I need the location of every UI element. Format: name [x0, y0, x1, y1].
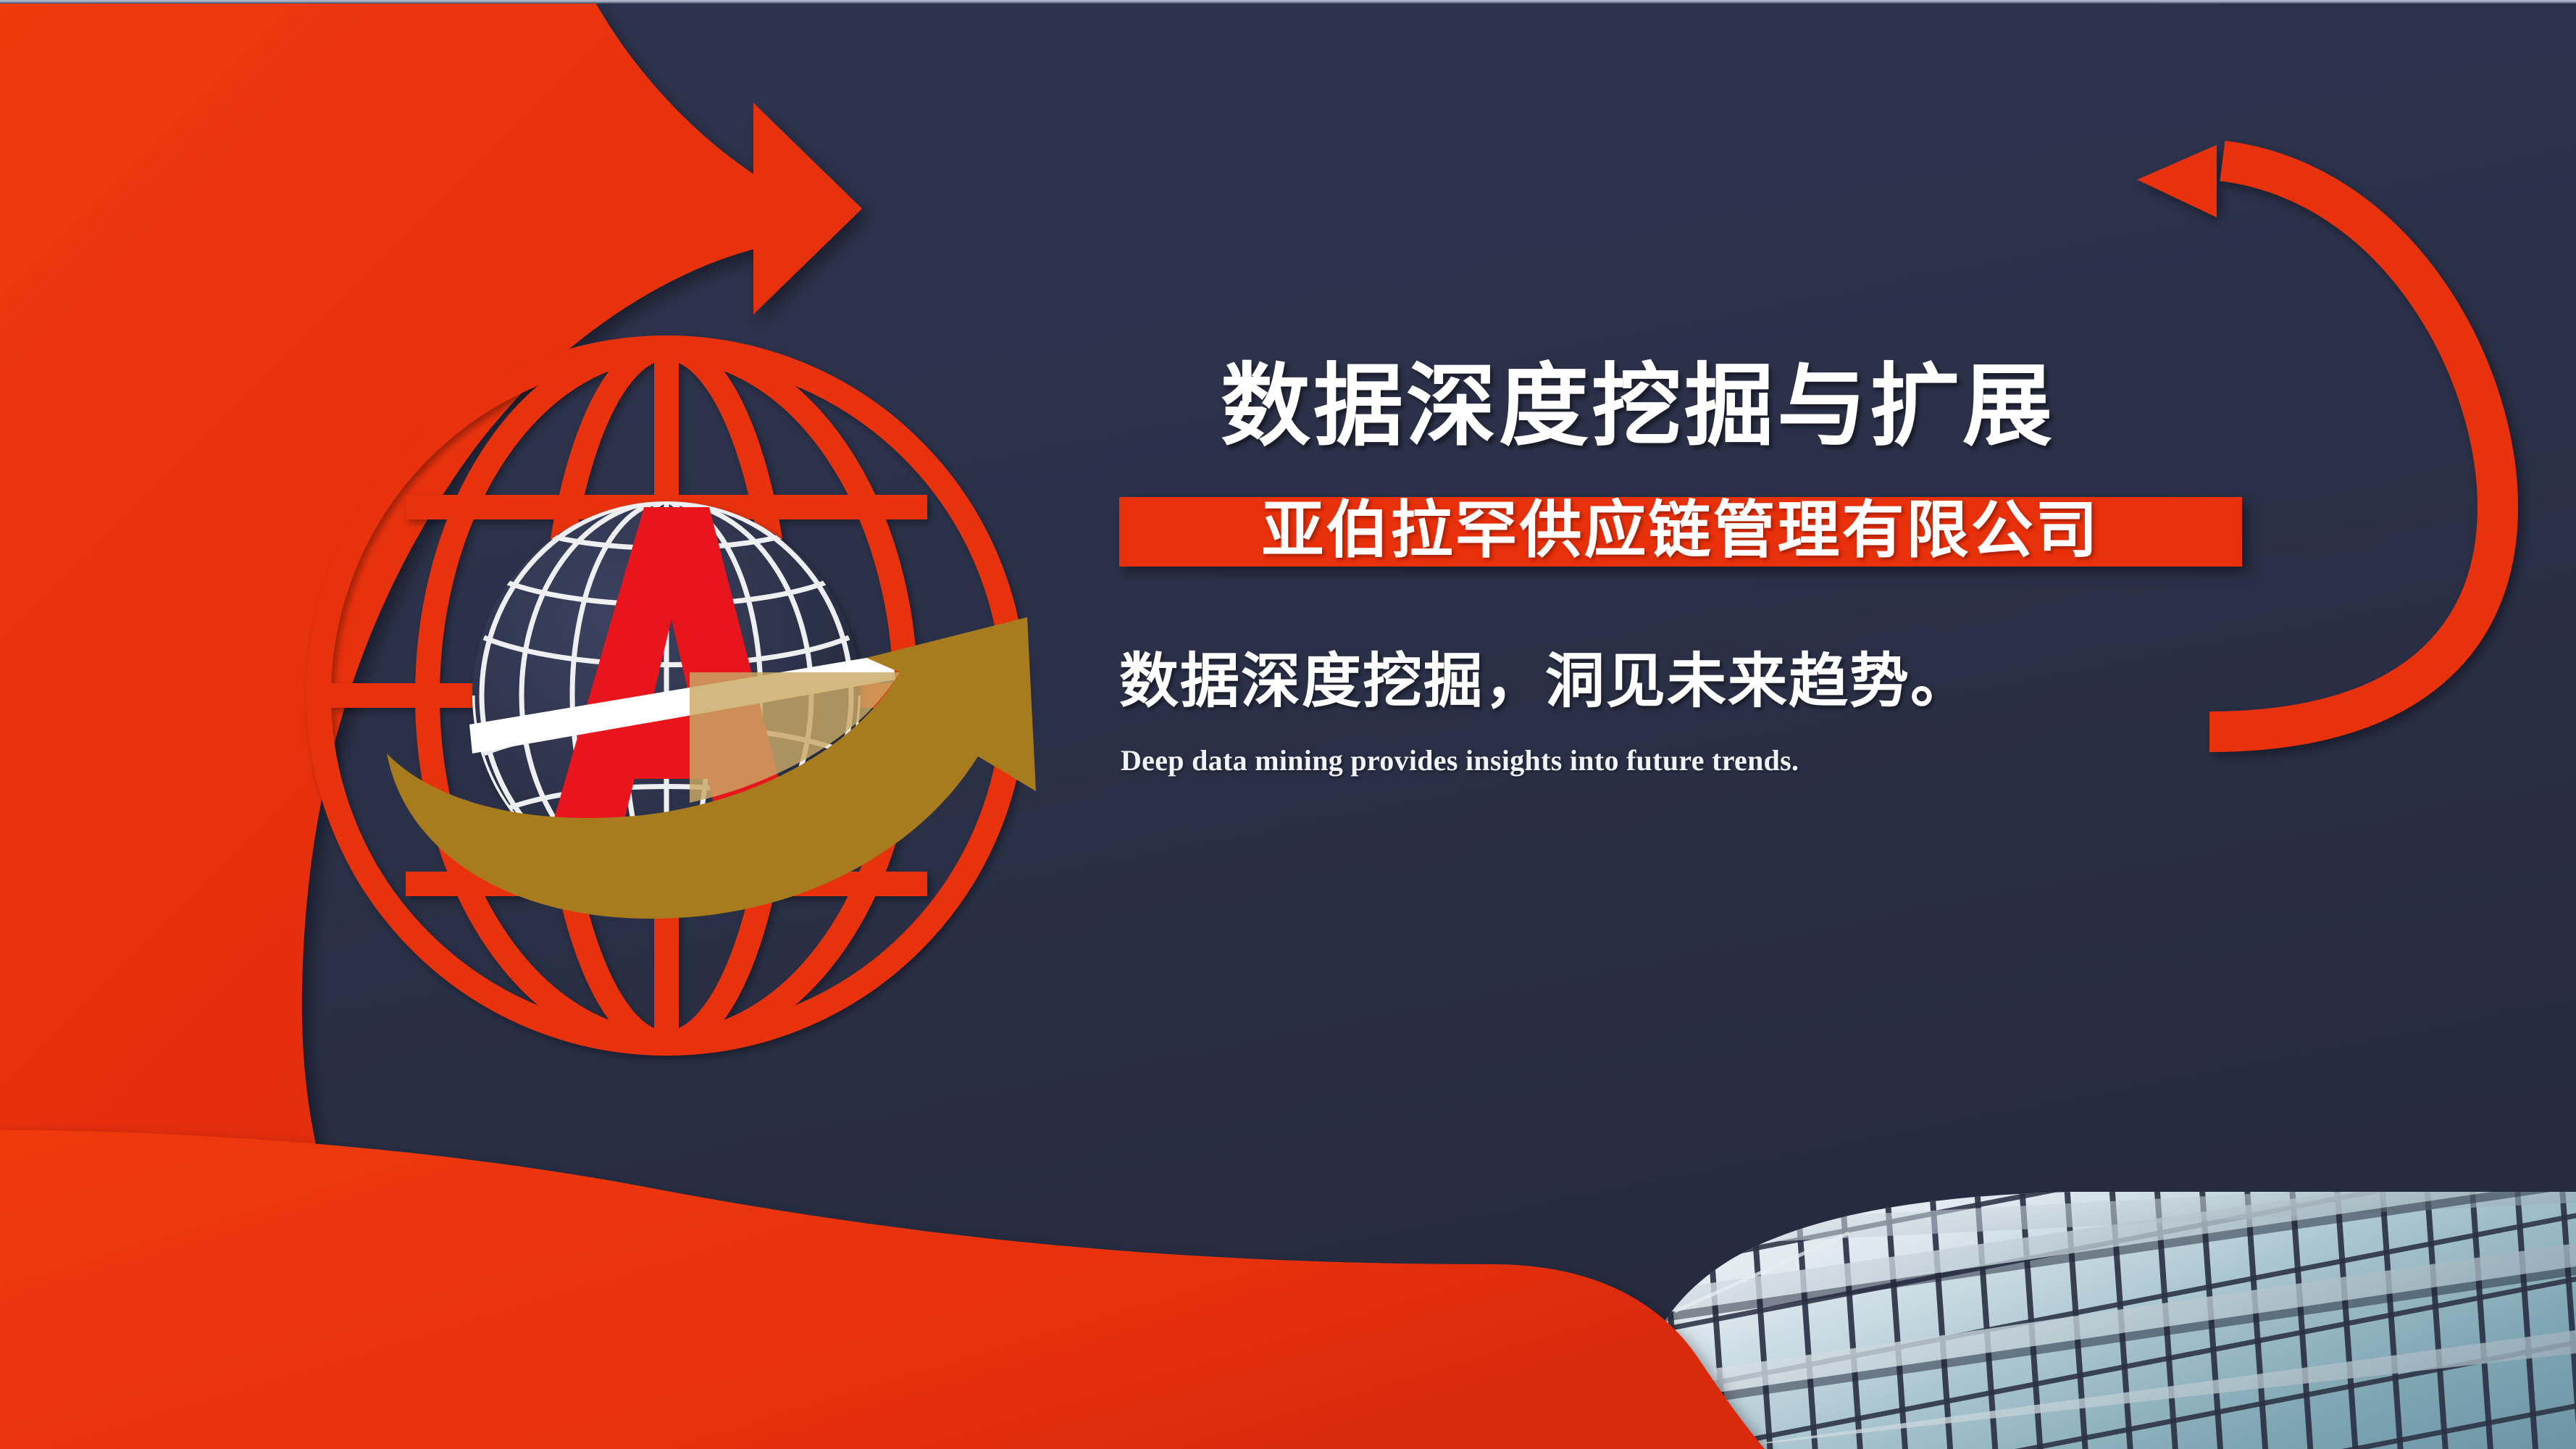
tagline-en: Deep data mining provides insights into … [1121, 746, 2351, 775]
hero-text-block: 数据深度挖掘与扩展 亚伯拉罕供应链管理有限公司 数据深度挖掘，洞见未来趋势。 D… [1119, 362, 2351, 775]
tagline-cn: 数据深度挖掘，洞见未来趋势。 [1119, 652, 2351, 711]
company-name-banner: 亚伯拉罕供应链管理有限公司 [1119, 497, 2242, 567]
page-title: 数据深度挖掘与扩展 [1221, 362, 2351, 452]
top-edge-strip [0, 0, 2576, 4]
banner-artboard: 数据深度挖掘与扩展 亚伯拉罕供应链管理有限公司 数据深度挖掘，洞见未来趋势。 D… [0, 0, 2576, 1449]
artboard-canvas: 数据深度挖掘与扩展 亚伯拉罕供应链管理有限公司 数据深度挖掘，洞见未来趋势。 D… [0, 0, 2576, 1449]
company-name: 亚伯拉罕供应链管理有限公司 [1262, 499, 2100, 561]
